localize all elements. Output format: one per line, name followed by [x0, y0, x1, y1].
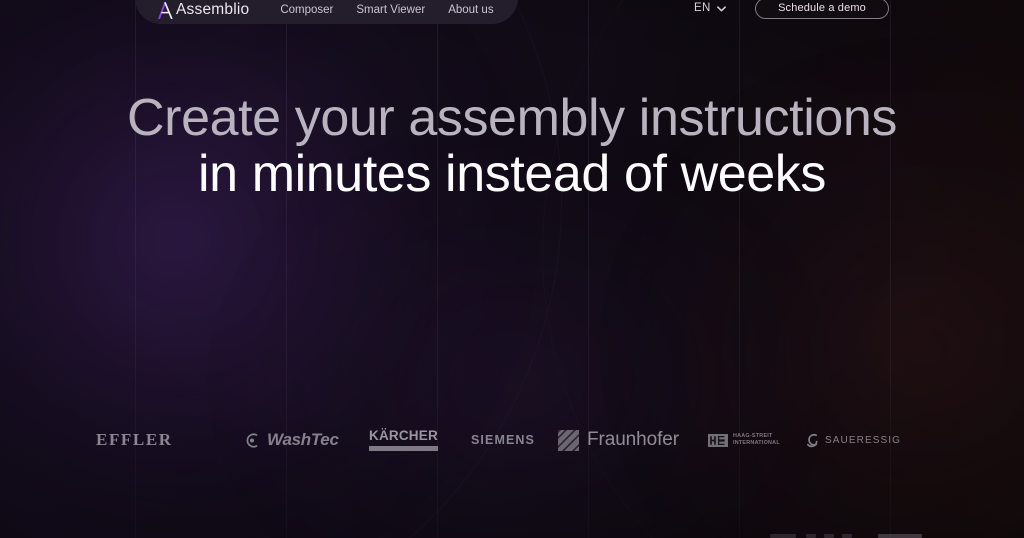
nav-link-composer[interactable]: Composer: [280, 5, 333, 17]
saueressig-mark-icon: [805, 432, 819, 448]
nav-pill: Assemblio Composer Smart Viewer About us: [135, 0, 518, 24]
washtec-wordmark: WashTec: [267, 430, 339, 450]
haag-streit-line-1: HAAG-STREIT: [733, 433, 780, 440]
language-switcher[interactable]: EN: [694, 3, 726, 15]
fraunhofer-mark-icon: [558, 430, 579, 451]
fraunhofer-wordmark: Fraunhofer: [587, 429, 679, 451]
brand-logo[interactable]: Assemblio: [158, 0, 249, 20]
hero-headline-line-2: in minutes instead of weeks: [0, 146, 1024, 202]
peek-element: [770, 534, 796, 538]
logo-schaeffler: EFFLER: [96, 424, 173, 456]
logo-saueressig: SAUERESSIG: [805, 424, 901, 456]
chevron-down-icon: [717, 6, 726, 12]
nav-link-about-us[interactable]: About us: [448, 5, 493, 17]
assemblio-logo-icon: [158, 2, 173, 19]
logo-haag-streit: HAAG-STREIT INTERNATIONAL: [708, 424, 780, 456]
logo-karcher: KÄRCHER: [369, 424, 438, 456]
background-vignette: [0, 0, 1024, 538]
next-section-peek: [0, 532, 1024, 538]
saueressig-wordmark: SAUERESSIG: [825, 435, 901, 446]
karcher-underline-bar: [369, 446, 438, 451]
washtec-mark-icon: [243, 433, 262, 448]
logo-siemens: SIEMENS: [471, 424, 535, 456]
logo-fraunhofer: Fraunhofer: [558, 424, 679, 456]
customer-logo-strip: EFFLER WashTec KÄRCHER SIEMENS: [0, 424, 1024, 456]
peek-element: [842, 534, 852, 538]
landing-page: Assemblio Composer Smart Viewer About us…: [0, 0, 1024, 538]
hero-section: Create your assembly instructions in min…: [0, 90, 1024, 202]
hero-headline-line-1: Create your assembly instructions: [0, 90, 1024, 146]
peek-element: [878, 534, 922, 538]
peek-element: [806, 534, 816, 538]
site-header: Assemblio Composer Smart Viewer About us…: [0, 0, 1024, 24]
haag-streit-wordmark: HAAG-STREIT INTERNATIONAL: [733, 433, 780, 447]
language-label: EN: [694, 3, 711, 15]
haag-streit-mark-icon: [708, 434, 728, 447]
brand-name: Assemblio: [176, 2, 249, 18]
karcher-wordmark: KÄRCHER: [369, 429, 438, 443]
primary-nav: Composer Smart Viewer About us: [280, 2, 493, 20]
schedule-demo-button[interactable]: Schedule a demo: [755, 0, 889, 19]
peek-element: [824, 534, 834, 538]
haag-streit-line-2: INTERNATIONAL: [733, 440, 780, 447]
nav-link-smart-viewer[interactable]: Smart Viewer: [356, 5, 425, 17]
logo-washtec: WashTec: [243, 424, 339, 456]
